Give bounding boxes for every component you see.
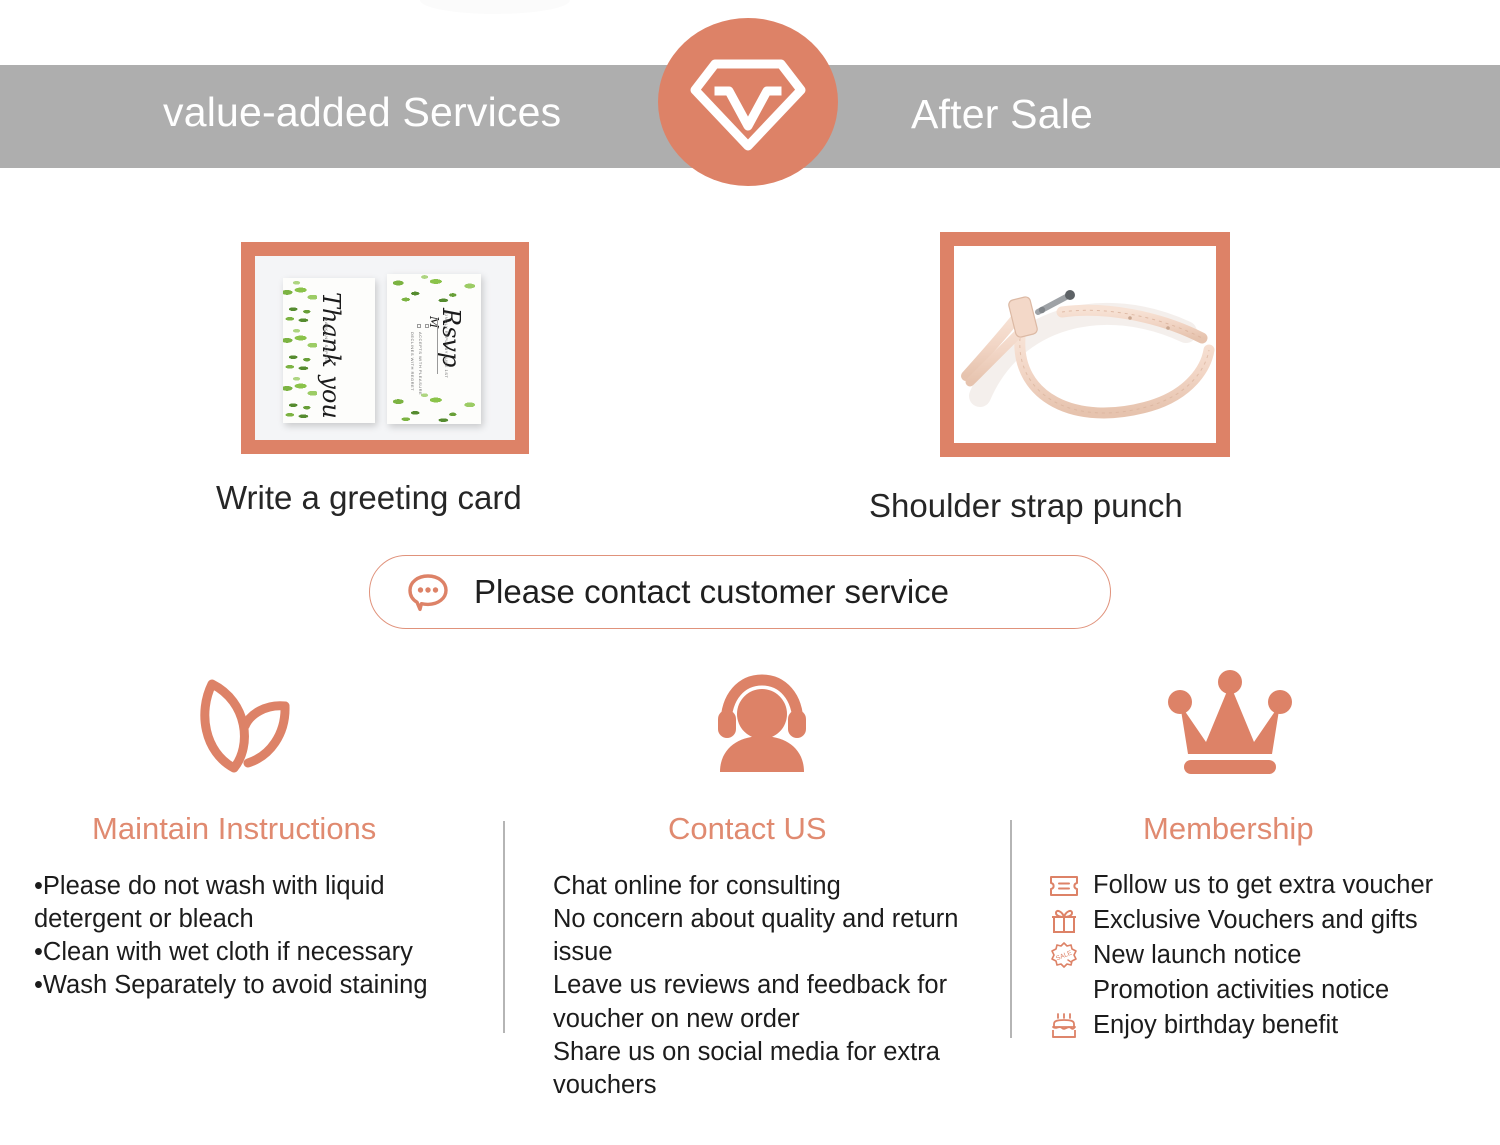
rsvp-option-2: DECLINES WITH REGRET	[410, 332, 415, 391]
rsvp-checkbox	[417, 324, 421, 328]
rsvp-option-1: ACCEPTS WITH PLEASURE	[418, 332, 423, 395]
thank-you-card: Thank you MARK AND SOPHIE	[283, 278, 375, 423]
svg-text:SALE: SALE	[1055, 949, 1074, 962]
column-divider	[503, 821, 505, 1033]
sale-badge-icon: SALE	[1047, 941, 1081, 971]
ticket-icon	[1047, 871, 1081, 901]
membership-benefit-label: New launch notice	[1093, 943, 1301, 969]
foliage-decoration-icon	[387, 274, 481, 304]
greeting-card-photo: Thank you MARK AND SOPHIE Rsvp KINDLY RE…	[241, 242, 529, 454]
headset-agent-icon	[707, 666, 817, 776]
gift-icon	[1047, 906, 1081, 936]
maintain-line: •Please do not wash with liquid detergen…	[34, 870, 454, 936]
shoulder-strap-photo	[940, 232, 1230, 457]
crown-icon	[1160, 666, 1300, 776]
brand-logo	[658, 18, 838, 186]
chat-bubble-icon	[404, 568, 452, 616]
contact-customer-service-button[interactable]: Please contact customer service	[369, 555, 1111, 629]
foliage-decoration-icon	[387, 392, 481, 424]
leaves-icon	[186, 666, 306, 776]
list-item: SALE New launch notice	[1047, 938, 1487, 973]
greeting-card-caption: Write a greeting card	[216, 481, 522, 514]
column-title-membership: Membership	[1143, 813, 1314, 844]
membership-benefit-label: Exclusive Vouchers and gifts	[1093, 908, 1418, 934]
maintain-line: •Clean with wet cloth if necessary	[34, 936, 454, 969]
thank-you-card-subtitle: MARK AND SOPHIE	[324, 318, 329, 363]
top-artifact	[420, 0, 570, 14]
maintain-line: •Wash Separately to avoid staining	[34, 969, 454, 1002]
column-divider	[1010, 820, 1012, 1038]
rsvp-name-rule	[437, 318, 438, 374]
greeting-card-scene: Thank you MARK AND SOPHIE Rsvp KINDLY RE…	[255, 256, 515, 440]
list-item: Follow us to get extra voucher	[1047, 868, 1487, 903]
header-title-left: value-added Services	[163, 92, 561, 133]
column-body-contact: Chat online for consulting No concern ab…	[553, 870, 978, 1102]
membership-benefit-label: Follow us to get extra voucher	[1093, 873, 1433, 899]
rsvp-card-title: Rsvp	[437, 308, 465, 367]
membership-benefit-list: Follow us to get extra voucher Exclusive…	[1047, 868, 1487, 1043]
rsvp-card: Rsvp KINDLY REPLY BY JUNE 1ST M ACCEPTS …	[387, 274, 481, 424]
foliage-decoration-icon	[283, 278, 317, 423]
contact-line: Share us on social media for extra vouch…	[553, 1036, 978, 1102]
shoulder-strap-caption: Shoulder strap punch	[869, 489, 1183, 522]
list-item: Exclusive Vouchers and gifts	[1047, 903, 1487, 938]
membership-benefit-label: Promotion activities notice	[1093, 978, 1389, 1004]
contact-line: Leave us reviews and feedback for vouche…	[553, 969, 978, 1035]
thank-you-card-title: Thank you	[317, 292, 345, 419]
bottom-columns: Maintain Instructions •Please do not was…	[0, 666, 1500, 1145]
header-title-right: After Sale	[911, 94, 1093, 135]
membership-benefit-label: Enjoy birthday benefit	[1093, 1013, 1338, 1039]
rsvp-checkbox	[425, 324, 429, 328]
list-item: Promotion activities notice	[1047, 973, 1487, 1008]
contact-line: No concern about quality and return issu…	[553, 903, 978, 969]
column-title-maintain: Maintain Instructions	[92, 813, 376, 844]
service-info-page: value-added Services After Sale Thank yo…	[0, 0, 1500, 1145]
list-item: Enjoy birthday benefit	[1047, 1008, 1487, 1043]
shoulder-strap-scene	[954, 246, 1216, 443]
rsvp-card-subtitle: KINDLY REPLY BY JUNE 1ST	[444, 312, 449, 378]
contact-line: Chat online for consulting	[553, 870, 978, 903]
contact-customer-service-label: Please contact customer service	[474, 575, 949, 608]
diamond-v-logo-icon	[685, 42, 811, 162]
column-body-maintain: •Please do not wash with liquid detergen…	[34, 870, 454, 1003]
rsvp-name-prefix: M	[427, 316, 441, 328]
column-title-contact: Contact US	[668, 813, 827, 844]
birthday-cake-icon	[1047, 1011, 1081, 1041]
